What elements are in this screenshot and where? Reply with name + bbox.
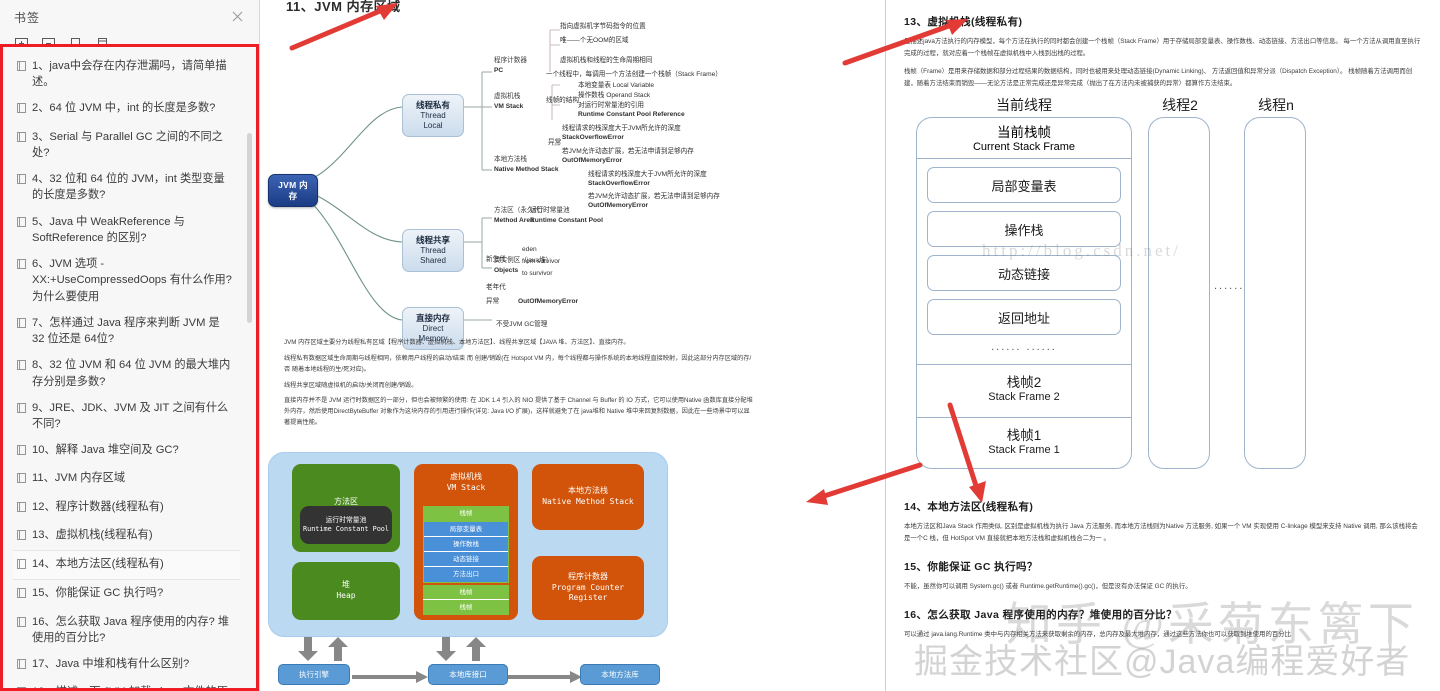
bookmark-item-label: 8、32 位 JVM 和 64 位 JVM 的最大堆内存分别是多数?	[32, 357, 234, 389]
mindmap-leaf: 运行时常量池	[530, 206, 570, 216]
bookmark-item-label: 5、Java 中 WeakReference 与 SoftReference 的…	[32, 214, 234, 246]
bookmark-item-label: 1、java中会存在内存泄漏吗，请简单描述。	[32, 58, 234, 90]
mindmap-leaf: 线帧的结构	[546, 96, 579, 106]
diagram-execution-engine: 执行引擎	[278, 664, 350, 685]
bookmark-item-label: 12、程序计数器(线程私有)	[32, 499, 234, 515]
rcp-cn: 运行时常量池	[326, 516, 367, 525]
bookmark-entry-icon	[17, 258, 26, 274]
bookmark-item-17[interactable]: 17、Java 中堆和栈有什么区别?	[13, 651, 240, 679]
vm-stack-en: VM Stack	[447, 483, 486, 494]
bookmark-entry-icon	[17, 317, 26, 333]
diagram-frame: 栈帧	[423, 600, 509, 615]
section-paragraph: 本地方法区和Java Stack 作用类似, 区别是虚拟机栈为执行 Java 方…	[904, 521, 1422, 545]
section-heading-16: 16、怎么获取 Java 程序使用的内存？堆使用的百分比？	[904, 607, 1422, 622]
bookmark-entry-icon	[17, 173, 26, 189]
section-paragraph: 可以通过 java.lang.Runtime 类中与内存相关方法来获取剩余的内存…	[904, 629, 1422, 641]
heap-en: Heap	[336, 591, 355, 602]
diagram-pc-register: 程序计数器 Program Counter Register	[532, 556, 644, 620]
bookmark-entry-icon	[17, 444, 26, 460]
bookmark-item-label: 6、JVM 选项 -XX:+UseCompressedOops 有什么作用? 为…	[32, 256, 234, 305]
section-heading-15: 15、你能保证 GC 执行吗？	[904, 559, 1422, 574]
bookmark-item-3[interactable]: 3、Serial 与 Parallel GC 之间的不同之处?	[13, 124, 240, 166]
jvm-memory-mindmap: JVM 内存 线程私有 Thread Local 线程共享 Thread Sha…	[260, 10, 886, 340]
bookmark-item-label: 3、Serial 与 Parallel GC 之间的不同之处?	[32, 129, 234, 161]
bookmark-item-5[interactable]: 5、Java 中 WeakReference 与 SoftReference 的…	[13, 209, 240, 251]
bookmark-item-label: 16、怎么获取 Java 程序使用的内存? 堆使用的百分比?	[32, 614, 234, 646]
bookmark-entry-icon	[17, 501, 26, 517]
bookmark-item-11[interactable]: 11、JVM 内存区域	[13, 465, 240, 493]
bookmark-item-15[interactable]: 15、你能保证 GC 执行吗?	[13, 580, 240, 608]
figure-part-dynamic-linking: 动态链接	[927, 255, 1121, 291]
diagram-frame-part: 方法出口	[424, 567, 508, 582]
mindmap-leaf: 一个线程中，每调用一个方法创建一个栈帧（Stack Frame）	[546, 70, 722, 80]
frame2-en: Stack Frame 2	[917, 391, 1131, 403]
nms-en: Native Method Stack	[542, 497, 634, 508]
paragraph: 线程共享区域随虚拟机的启动/关闭而创建/销毁。	[284, 381, 754, 392]
sidebar-header: 书签	[0, 0, 259, 28]
branch-cn: 直接内存	[411, 313, 455, 324]
figure-stack-frame-1: 栈帧1 Stack Frame 1	[917, 417, 1131, 470]
branch-en: Thread Shared	[411, 246, 455, 266]
frame1-cn: 栈帧1	[917, 424, 1131, 444]
diagram-native-interface: 本地库接口	[428, 664, 508, 685]
bookmarks-sidebar: 书签	[0, 0, 260, 691]
section-heading-13: 13、虚拟机栈(线程私有)	[904, 14, 1422, 29]
branch-en: Thread Local	[411, 111, 455, 131]
mindmap-leaf: OutOfMemoryError	[588, 201, 648, 211]
bookmark-item-9[interactable]: 9、JRE、JDK、JVM 及 JIT 之间有什么不同?	[13, 395, 240, 437]
pc-en: Program Counter Register	[532, 583, 644, 605]
bookmark-item-label: 10、解释 Java 堆空间及 GC?	[32, 442, 234, 458]
mindmap-leaf: StackOverflowError	[562, 133, 624, 143]
diagram-vm-stack: 虚拟机栈 VM Stack 栈帧 局部变量表 操作数栈 动态链接 方法出口 栈帧…	[414, 464, 518, 620]
bookmark-item-label: 13、虚拟机栈(线程私有)	[32, 527, 234, 543]
bookmark-entry-icon	[17, 587, 26, 603]
bookmark-item-13[interactable]: 13、虚拟机栈(线程私有)	[13, 522, 240, 550]
figure-current-frame-body: 局部变量表 操作栈 动态链接 返回地址 ...... ......	[917, 158, 1131, 364]
jvm-runtime-data-area-diagram: 方法区 Method Area 运行时常量池 Runtime Constant …	[268, 452, 678, 691]
diagram-heap: 堆 Heap	[292, 562, 400, 620]
bookmark-item-label: 9、JRE、JDK、JVM 及 JIT 之间有什么不同?	[32, 400, 234, 432]
bookmark-entry-icon	[17, 102, 26, 118]
bookmark-item-label: 11、JVM 内存区域	[32, 470, 234, 486]
pdf-reader-window: 书签	[0, 0, 1440, 691]
pc-cn: 程序计数器	[568, 572, 608, 583]
figure-col-label-current-thread: 当前线程	[916, 95, 1132, 115]
bookmark-item-label: 15、你能保证 GC 执行吗?	[32, 585, 234, 601]
document-page-left: 11、JVM 内存区域 JVM 内存 线程私有 Thread Local	[260, 0, 886, 691]
bookmark-item-label: 18、描述一下 JVM 加载 class 文件的原理机制	[32, 684, 234, 688]
mindmap-leaf: 不受JVM GC管理	[496, 320, 547, 330]
bookmark-item-10[interactable]: 10、解释 Java 堆空间及 GC?	[13, 437, 240, 465]
sidebar-title: 书签	[14, 9, 40, 26]
bookmark-item-label: 2、64 位 JVM 中，int 的长度是多数?	[32, 100, 234, 116]
bookmark-entry-icon	[17, 658, 26, 674]
vm-stack-cn: 虚拟机栈	[450, 472, 482, 483]
mindmap-branch-thread-shared[interactable]: 线程共享 Thread Shared	[402, 229, 464, 272]
paragraph: 线程私有数据区域生命周期与线程相同，依赖用户线程的启动/结束 而 创建/销毁(在…	[284, 354, 754, 376]
figure-col-label-thread2: 线程2	[1144, 95, 1216, 115]
mindmap-leaf: 操作数栈 Operand Stack	[578, 91, 650, 101]
bookmark-item-14[interactable]: 14、本地方法区(线程私有)	[13, 550, 240, 580]
mindmap-branch-thread-local[interactable]: 线程私有 Thread Local	[402, 94, 464, 137]
paragraph: 直接内存并不是 JVM 运行时数据区的一部分，但也会被频繁的使用: 在 JDK …	[284, 396, 754, 429]
bookmark-item-16[interactable]: 16、怎么获取 Java 程序使用的内存? 堆使用的百分比?	[13, 609, 240, 651]
bookmark-entry-icon	[17, 359, 26, 375]
diagram-frame-part: 动态链接	[424, 552, 508, 567]
frame1-en: Stack Frame 1	[917, 444, 1131, 456]
branch-cn: 线程私有	[411, 100, 455, 111]
bookmark-item-12[interactable]: 12、程序计数器(线程私有)	[13, 494, 240, 522]
mindmap-leaf: 虚拟机栈和线程的生命周期相同	[560, 56, 652, 66]
mindmap-leaf: OutOfMemoryError	[562, 156, 622, 166]
mindmap-leaf: OutOfMemoryError	[518, 297, 578, 307]
figure-part-local-variable-table: 局部变量表	[927, 167, 1121, 203]
mindmap-leaf: 指向虚拟机字节码指令的位置	[560, 22, 646, 32]
bookmark-item-label: 7、怎样通过 Java 程序来判断 JVM 是 32 位还是 64位?	[32, 315, 234, 347]
figure-threads-ellipsis: ......	[1214, 280, 1244, 292]
bookmark-item-8[interactable]: 8、32 位 JVM 和 64 位 JVM 的最大堆内存分别是多数?	[13, 352, 240, 394]
section-paragraph: 不能，虽然你可以调用 System.gc() 或者 Runtime.getRun…	[904, 581, 1422, 593]
diagram-native-method-library: 本地方法库	[580, 664, 660, 685]
bookmark-entry-icon	[17, 472, 26, 488]
bookmark-entry-icon	[17, 558, 26, 574]
close-icon[interactable]	[228, 8, 247, 26]
current-frame-cn: 当前栈帧	[917, 121, 1131, 141]
diagram-frame-part: 操作数栈	[424, 537, 508, 552]
bookmarks-list[interactable]: 1、java中会存在内存泄漏吗，请简单描述。2、64 位 JVM 中，int 的…	[3, 47, 256, 688]
mindmap-root[interactable]: JVM 内存	[268, 174, 318, 207]
bookmark-item-4[interactable]: 4、32 位和 64 位的 JVM，int 类型变量的长度是多数?	[13, 166, 240, 208]
right-page-content: 13、虚拟机栈(线程私有) 是描述java方法执行的内存模型，每个方法在执行的同…	[886, 0, 1440, 691]
diagram-frame-part: 局部变量表	[424, 522, 508, 537]
bookmark-item-1[interactable]: 1、java中会存在内存泄漏吗，请简单描述。	[13, 53, 240, 95]
paragraph: JVM 内存区域主要分为线程私有区域【程序计数器、虚拟机栈、本地方法区】、线程共…	[284, 338, 754, 349]
figure-current-thread-stack: 当前栈帧 Current Stack Frame 局部变量表 操作栈 动态链接 …	[916, 117, 1132, 469]
mindmap-leaf: 唯——个无OOM的区域	[560, 36, 629, 46]
bookmark-entry-icon	[17, 216, 26, 232]
bookmark-item-label: 4、32 位和 64 位的 JVM，int 类型变量的长度是多数?	[32, 171, 234, 203]
bookmark-item-label: 14、本地方法区(线程私有)	[32, 556, 234, 572]
figure-threadn-stack	[1244, 117, 1306, 469]
figure-part-operand-stack: 操作栈	[927, 211, 1121, 247]
mindmap-leaf: 异常	[486, 297, 499, 307]
mindmap-leaf: StackOverflowError	[588, 179, 650, 189]
center-body-copy: JVM 内存区域主要分为线程私有区域【程序计数器、虚拟机栈、本地方法区】、线程共…	[284, 338, 754, 434]
mindmap-leaf: 新生代	[486, 255, 506, 265]
diagram-method-area: 方法区 Method Area 运行时常量池 Runtime Constant …	[292, 464, 400, 552]
bookmark-entry-icon	[17, 686, 26, 688]
bookmark-entry-icon	[17, 131, 26, 147]
bookmark-entry-icon	[17, 616, 26, 632]
diagram-frame: 栈帧	[423, 585, 509, 600]
mindmap-leaf: 异常	[548, 138, 561, 148]
mindmap-leaf: Runtime Constant Pool Reference	[578, 110, 685, 120]
section-heading-14: 14、本地方法区(线程私有)	[904, 499, 1422, 514]
mindmap-node-vm-stack: 虚拟机栈VM Stack	[494, 92, 523, 112]
figure-stack-frame-2: 栈帧2 Stack Frame 2	[917, 364, 1131, 417]
figure-part-return-address: 返回地址	[927, 299, 1121, 335]
nms-cn: 本地方法栈	[568, 486, 608, 497]
mindmap-leaf: to survivor	[522, 269, 552, 279]
bookmark-entry-icon	[17, 402, 26, 418]
rcp-en: Runtime Constant Pool	[303, 525, 389, 534]
bookmark-entry-icon	[17, 60, 26, 76]
bookmarks-highlight-box: 1、java中会存在内存泄漏吗，请简单描述。2、64 位 JVM 中，int 的…	[0, 44, 259, 691]
mindmap-node-pc: 程序计数器PC	[494, 56, 527, 76]
bookmark-item-2[interactable]: 2、64 位 JVM 中，int 的长度是多数?	[13, 95, 240, 123]
document-page-right: 13、虚拟机栈(线程私有) 是描述java方法执行的内存模型，每个方法在执行的同…	[886, 0, 1440, 691]
figure-col-label-threadn: 线程n	[1240, 95, 1312, 115]
figure-current-stack-frame-header: 当前栈帧 Current Stack Frame	[917, 118, 1131, 158]
bookmark-item-label: 17、Java 中堆和栈有什么区别?	[32, 656, 234, 672]
diagram-native-method-stack: 本地方法栈 Native Method Stack	[532, 464, 644, 530]
section-paragraph: 栈帧（Frame）是用来存储数据和部分过程结果的数据结构，同时也被用来处理动态链…	[904, 66, 1422, 90]
mindmap-leaf: from survivor	[522, 257, 560, 267]
current-frame-en: Current Stack Frame	[917, 141, 1131, 153]
bookmark-item-18[interactable]: 18、描述一下 JVM 加载 class 文件的原理机制	[13, 679, 240, 688]
figure-ellipsis: ...... ......	[917, 341, 1131, 353]
frame2-cn: 栈帧2	[917, 371, 1131, 391]
mindmap-node-native-stack: 本地方法栈Native Method Stack	[494, 155, 559, 175]
section-paragraph: 是描述java方法执行的内存模型，每个方法在执行的同时都会创建一个栈帧（Stac…	[904, 36, 1422, 60]
mindmap-leaf: Runtime Constant Pool	[530, 216, 603, 226]
mindmap-leaf: 本地变量表 Local Variable	[578, 81, 654, 91]
bookmark-entry-icon	[17, 529, 26, 545]
diagram-frame: 栈帧	[423, 506, 509, 521]
bookmark-item-6[interactable]: 6、JVM 选项 -XX:+UseCompressedOops 有什么作用? 为…	[13, 251, 240, 310]
mindmap-leaf: eden	[522, 245, 537, 255]
mindmap-leaf: 老年代	[486, 283, 506, 293]
heap-cn: 堆	[342, 580, 350, 591]
figure-thread2-stack	[1148, 117, 1210, 469]
bookmark-item-7[interactable]: 7、怎样通过 Java 程序来判断 JVM 是 32 位还是 64位?	[13, 310, 240, 352]
sidebar-scrollbar-thumb[interactable]	[247, 133, 252, 323]
diagram-runtime-constant-pool: 运行时常量池 Runtime Constant Pool	[300, 506, 392, 544]
branch-cn: 线程共享	[411, 235, 455, 246]
stack-frame-figure: 当前线程 线程2 线程n 当前栈帧 Current Stack Frame 局部…	[904, 95, 1424, 485]
